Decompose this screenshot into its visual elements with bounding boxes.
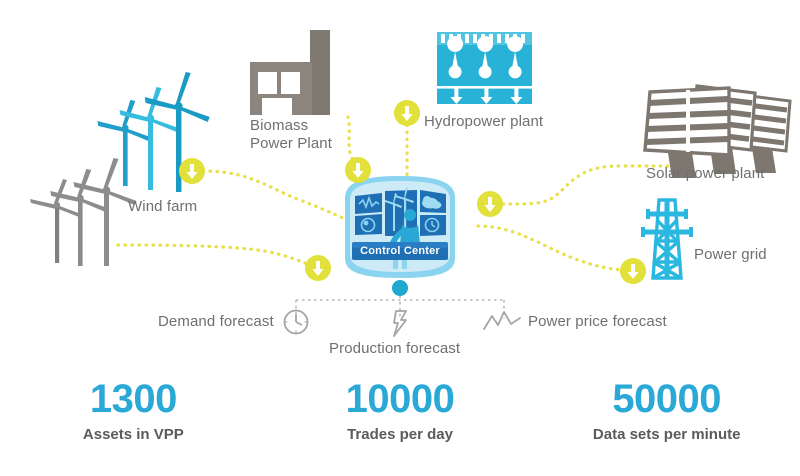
stat-label: Data sets per minute bbox=[533, 426, 800, 443]
forecast-branch bbox=[285, 280, 521, 336]
stat-label: Trades per day bbox=[267, 426, 534, 443]
label-hydropower-plant: Hydropower plant bbox=[424, 113, 543, 131]
stat-trades-per-day: 10000 Trades per day bbox=[267, 378, 534, 443]
stat-value: 10000 bbox=[267, 378, 534, 420]
label-demand-forecast: Demand forecast bbox=[158, 313, 274, 331]
label-power-grid: Power grid bbox=[694, 246, 767, 264]
infographic-canvas: Control Center Wind farm Biomass Power P… bbox=[0, 0, 800, 476]
down-arrow-badge-wind[interactable] bbox=[179, 158, 205, 184]
stat-data-sets-per-minute: 50000 Data sets per minute bbox=[533, 378, 800, 443]
wind-turbine-icon-gray bbox=[30, 158, 137, 266]
down-arrow-badge-wind-lower[interactable] bbox=[305, 255, 331, 281]
down-arrow-badge-grid[interactable] bbox=[620, 258, 646, 284]
stat-value: 50000 bbox=[533, 378, 800, 420]
down-arrow-badge-solar[interactable] bbox=[477, 191, 503, 217]
stat-value: 1300 bbox=[0, 378, 267, 420]
stat-assets-in-vpp: 1300 Assets in VPP bbox=[0, 378, 267, 443]
down-arrow-badge-hydro[interactable] bbox=[394, 100, 420, 126]
zigzag-line-icon bbox=[484, 312, 520, 329]
forecast-root-dot bbox=[392, 280, 408, 296]
down-arrow-badge-biomass[interactable] bbox=[345, 157, 371, 183]
transmission-tower-icon bbox=[643, 200, 691, 278]
factory-icon bbox=[250, 30, 330, 115]
stat-label: Assets in VPP bbox=[0, 426, 267, 443]
label-solar-power-plant: Solar power plant bbox=[646, 165, 764, 183]
label-power-price-forecast: Power price forecast bbox=[528, 313, 667, 331]
stats-row: 1300 Assets in VPP 10000 Trades per day … bbox=[0, 378, 800, 476]
label-biomass-power-plant: Biomass Power Plant bbox=[250, 117, 332, 152]
label-production-forecast: Production forecast bbox=[329, 340, 460, 358]
label-wind-farm: Wind farm bbox=[128, 198, 197, 216]
dam-icon bbox=[437, 32, 532, 104]
control-center[interactable] bbox=[345, 176, 455, 278]
